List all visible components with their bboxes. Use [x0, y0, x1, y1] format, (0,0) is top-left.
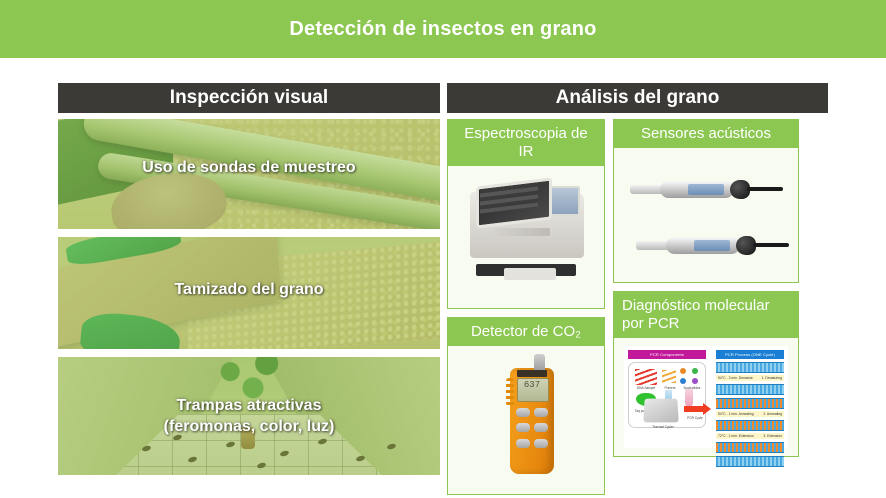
analysis-subcolumn-right: Sensores acústicos Diagnóstico molecular… — [613, 119, 799, 495]
card-acoustic-sensors[interactable]: Sensores acústicos — [613, 119, 799, 283]
card-title-acoustic-sensors: Sensores acústicos — [614, 120, 798, 148]
analysis-subcolumn-left: Espectroscopia de IR Detector de CO₂ — [447, 119, 605, 495]
card-title-ir-spectroscopy: Espectroscopia de IR — [448, 120, 604, 166]
ir-spectrometer-image — [448, 166, 604, 308]
spectrometer-icon — [470, 180, 584, 272]
panel-caption: Tamizado del grano — [58, 279, 440, 300]
page-banner: Detección de insectos en grano — [0, 0, 886, 58]
pcr-step-name-3: 3. Extension — [763, 434, 782, 438]
pcr-diagram-image: PCR Components DNA Sample Primers — [614, 338, 798, 456]
acoustic-probe-icon — [636, 232, 786, 258]
pcr-process-block: PCR Process (ONE Cycle) 94°C - 3 min. De… — [716, 350, 784, 467]
pcr-process-header: PCR Process (ONE Cycle) — [716, 350, 784, 359]
co2-display-value: 637 — [519, 380, 545, 390]
pcr-label-thermal-cycler: Thermal Cycler — [646, 425, 680, 429]
pcr-components-block: PCR Components DNA Sample Primers — [628, 350, 706, 428]
panel-caption-line2: (feromonas, color, luz) — [58, 416, 440, 437]
co2-meter-image: 637 — [448, 346, 604, 494]
panel-sampling-probes[interactable]: Uso de sondas de muestreo — [58, 119, 440, 229]
pcr-infographic: PCR Components DNA Sample Primers — [624, 346, 788, 448]
panel-grain-sieving[interactable]: Tamizado del grano — [58, 237, 440, 349]
grain-analysis-header: Análisis del grano — [447, 83, 828, 113]
pcr-step-name-2: 2. Annealing — [763, 412, 782, 416]
visual-inspection-header: Inspección visual — [58, 83, 440, 113]
card-title-pcr-line1: Diagnóstico molecular — [614, 292, 798, 315]
pcr-step-temp-3: 72°C - 1 min. Extension — [718, 434, 754, 438]
pcr-step-name-1: 1. Denaturing — [762, 376, 782, 380]
card-ir-spectroscopy[interactable]: Espectroscopia de IR — [447, 119, 605, 309]
page-title: Detección de insectos en grano — [289, 18, 596, 41]
co2-meter-icon: 637 — [504, 356, 562, 476]
pcr-step-temp-2: 54°C - 1 min. Annealing — [718, 412, 754, 416]
pcr-label-pcr-cycle: PCR Cycle — [682, 416, 708, 420]
acoustic-sensors-image — [614, 148, 798, 282]
panel-caption-line1: Trampas atractivas — [58, 395, 440, 416]
panel-attractive-traps[interactable]: Trampas atractivas (feromonas, color, lu… — [58, 357, 440, 475]
panel-caption: Uso de sondas de muestreo — [58, 157, 440, 178]
grain-analysis-column: Análisis del grano Espectroscopia de IR — [447, 83, 828, 495]
card-title-co2-detector: Detector de CO₂ — [448, 318, 604, 346]
pcr-components-header: PCR Components — [628, 350, 706, 359]
pcr-step-temp-1: 94°C - 3 min. Denature — [718, 376, 753, 380]
card-co2-detector[interactable]: Detector de CO₂ 637 — [447, 317, 605, 495]
acoustic-probe-icon — [630, 176, 780, 202]
card-title-pcr-line2: por PCR — [614, 315, 798, 338]
visual-inspection-column: Inspección visual Uso de sondas de muest… — [58, 83, 440, 475]
card-pcr-diagnosis[interactable]: Diagnóstico molecular por PCR PCR Compon… — [613, 291, 799, 457]
